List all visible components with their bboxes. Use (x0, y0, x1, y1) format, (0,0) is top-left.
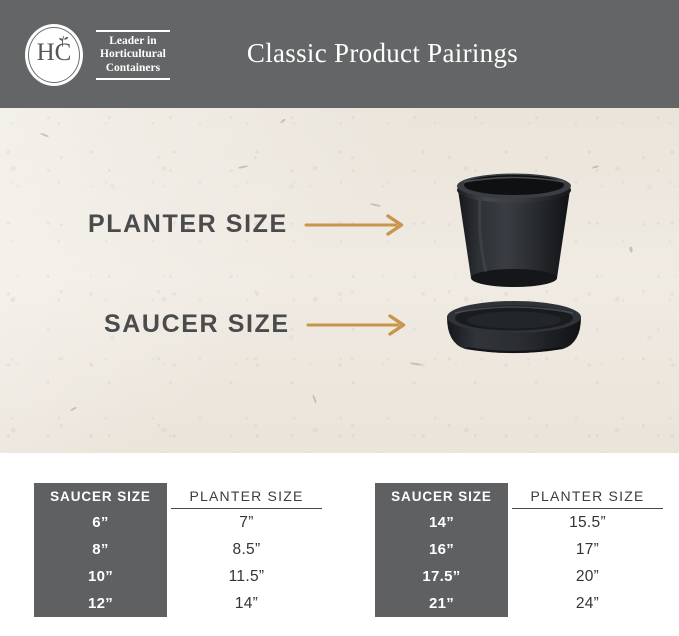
table-cell: 17.5” (375, 563, 508, 590)
table-cell: 10” (34, 563, 167, 590)
table-cell: 17” (512, 536, 663, 563)
column-planter-size: 7” 8.5” 11.5” 14” (171, 509, 322, 617)
column-planter-size: 15.5” 17” 20” 24” (512, 509, 663, 617)
planter-pot-image (444, 170, 584, 300)
table-cell: 20” (512, 563, 663, 590)
texture-speck (592, 165, 599, 169)
column-header-saucer-size: SAUCER SIZE (34, 483, 167, 509)
table-header-row: SAUCER SIZE PLANTER SIZE (34, 483, 322, 509)
column-saucer-size: 6” 8” 10” 12” (34, 509, 167, 617)
saucer-tray-image (443, 297, 585, 357)
callout-saucer-label: SAUCER SIZE (104, 310, 290, 339)
table-cell: 14” (171, 590, 322, 617)
table-cell: 7” (171, 509, 322, 536)
table-header-row: SAUCER SIZE PLANTER SIZE (375, 483, 663, 509)
callout-planter-label: PLANTER SIZE (88, 210, 288, 239)
page-title: Classic Product Pairings (0, 38, 679, 69)
table-cell: 8” (34, 536, 167, 563)
table-cell: 12” (34, 590, 167, 617)
texture-speck (40, 132, 49, 137)
table-cell: 6” (34, 509, 167, 536)
size-chart-small: SAUCER SIZE PLANTER SIZE 6” 8” 10” 12” 7… (34, 483, 322, 617)
table-body: 14” 16” 17.5” 21” 15.5” 17” 20” 24” (375, 509, 663, 617)
texture-speck (629, 246, 633, 252)
table-cell: 21” (375, 590, 508, 617)
column-saucer-size: 14” 16” 17.5” 21” (375, 509, 508, 617)
table-cell: 24” (512, 590, 663, 617)
texture-speck (238, 165, 248, 169)
table-cell: 15.5” (512, 509, 663, 536)
texture-speck (70, 406, 77, 411)
texture-speck (312, 394, 317, 403)
table-body: 6” 8” 10” 12” 7” 8.5” 11.5” 14” (34, 509, 322, 617)
page-header: HC Leader in Horticultural Containers Cl… (0, 0, 679, 108)
logo-rule-bottom (96, 78, 170, 79)
texture-speck (410, 362, 422, 366)
callout-planter-size: PLANTER SIZE (88, 210, 410, 239)
table-cell: 16” (375, 536, 508, 563)
table-cell: 14” (375, 509, 508, 536)
table-cell: 11.5” (171, 563, 322, 590)
size-chart-large: SAUCER SIZE PLANTER SIZE 14” 16” 17.5” 2… (375, 483, 663, 617)
diagram-panel: PLANTER SIZE SAUCER SIZE (0, 108, 679, 453)
texture-speck (370, 203, 381, 207)
column-header-planter-size: PLANTER SIZE (512, 483, 663, 509)
arrow-right-icon (304, 212, 410, 238)
column-header-planter-size: PLANTER SIZE (171, 483, 322, 509)
arrow-right-icon (306, 312, 412, 338)
column-header-saucer-size: SAUCER SIZE (375, 483, 508, 509)
table-cell: 8.5” (171, 536, 322, 563)
texture-speck (280, 118, 286, 123)
callout-saucer-size: SAUCER SIZE (104, 310, 412, 339)
